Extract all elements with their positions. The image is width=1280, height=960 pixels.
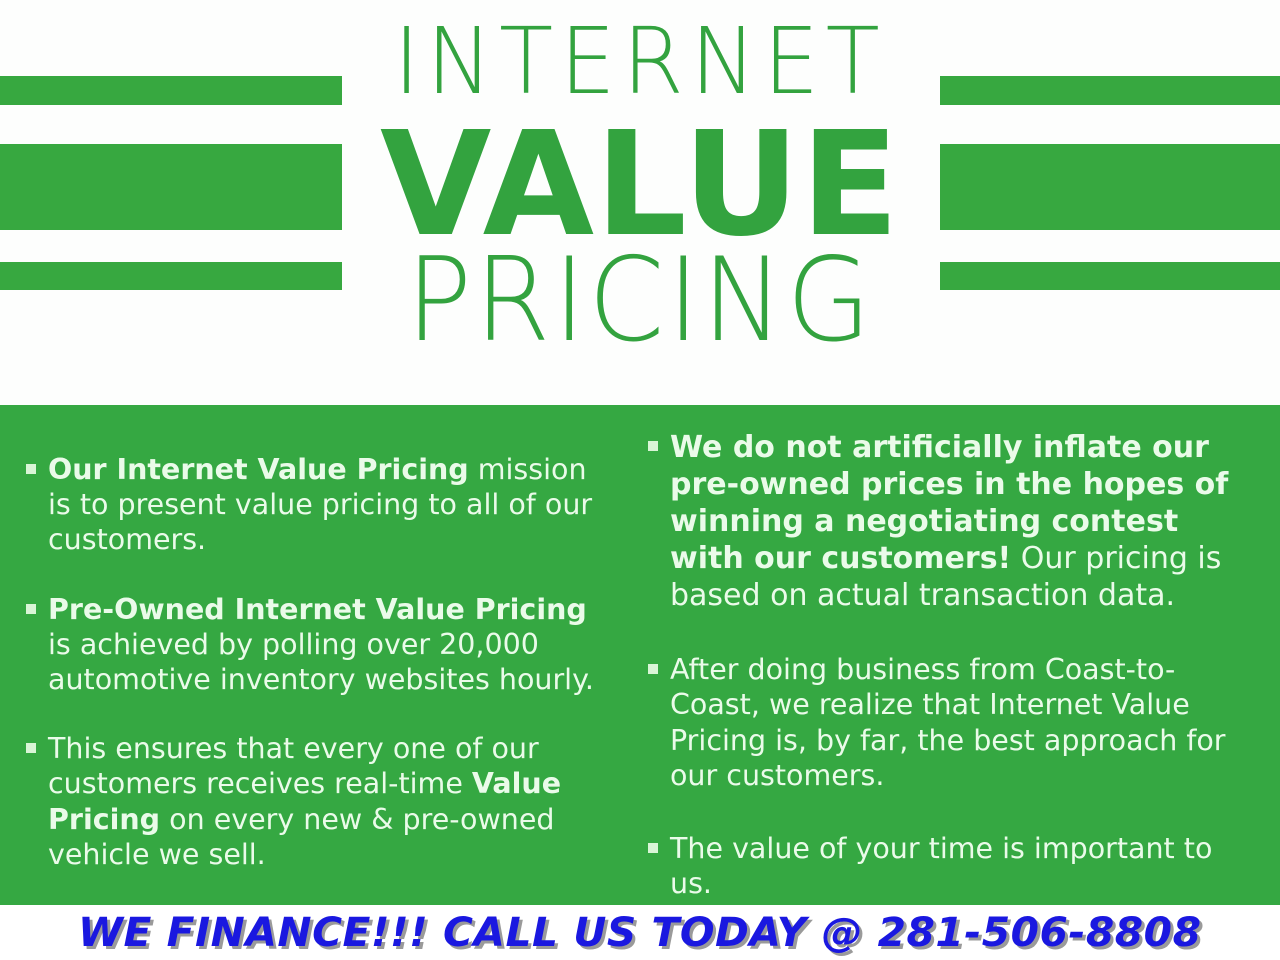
bullet-square-icon [26,464,36,474]
bullet-lead-text: Pre-Owned Internet Value Pricing [48,593,587,626]
bullet-square-icon [26,743,36,753]
bullet-square-icon [648,664,658,674]
list-item: Pre-Owned Internet Value Pricing is achi… [22,592,602,698]
bullet-body-text: This ensures that every one of our custo… [48,732,539,800]
bullet-square-icon [26,604,36,614]
list-item: Our Internet Value Pricing mission is to… [22,452,602,558]
list-item: The value of your time is important to u… [644,831,1259,901]
list-item: After doing business from Coast-to-Coast… [644,652,1259,793]
bullet-body-text: is achieved by polling over 20,000 autom… [48,628,594,696]
list-item: We do not artificially inflate our pre-o… [644,429,1259,614]
bullet-lead-text: Our Internet Value Pricing [48,453,469,486]
two-column-layout: Our Internet Value Pricing mission is to… [0,405,1280,911]
bullet-body-text: After doing business from Coast-to-Coast… [670,653,1226,792]
green-content-panel: Our Internet Value Pricing mission is to… [0,405,1280,911]
logo-header: INTERNET VALUE PRICING [0,0,1280,405]
bullet-square-icon [648,441,658,451]
finance-call-text: WE FINANCE!!! CALL US TODAY @ 281-506-88… [78,910,1201,956]
bullet-body-text: The value of your time is important to u… [670,832,1212,900]
logo-word-pricing: PRICING [38,243,1241,359]
left-bullet-list: Our Internet Value Pricing mission is to… [22,452,602,946]
logo-word-internet: INTERNET [26,16,1255,108]
list-item: This ensures that every one of our custo… [22,731,602,872]
right-bullet-list: We do not artificially inflate our pre-o… [644,429,1259,960]
finance-call-banner: WE FINANCE!!! CALL US TODAY @ 281-506-88… [0,905,1280,960]
right-column: We do not artificially inflate our pre-o… [644,405,1259,960]
bullet-square-icon [648,843,658,853]
left-column: Our Internet Value Pricing mission is to… [22,405,602,960]
internet-value-pricing-poster: INTERNET VALUE PRICING Our Internet Valu… [0,0,1280,960]
